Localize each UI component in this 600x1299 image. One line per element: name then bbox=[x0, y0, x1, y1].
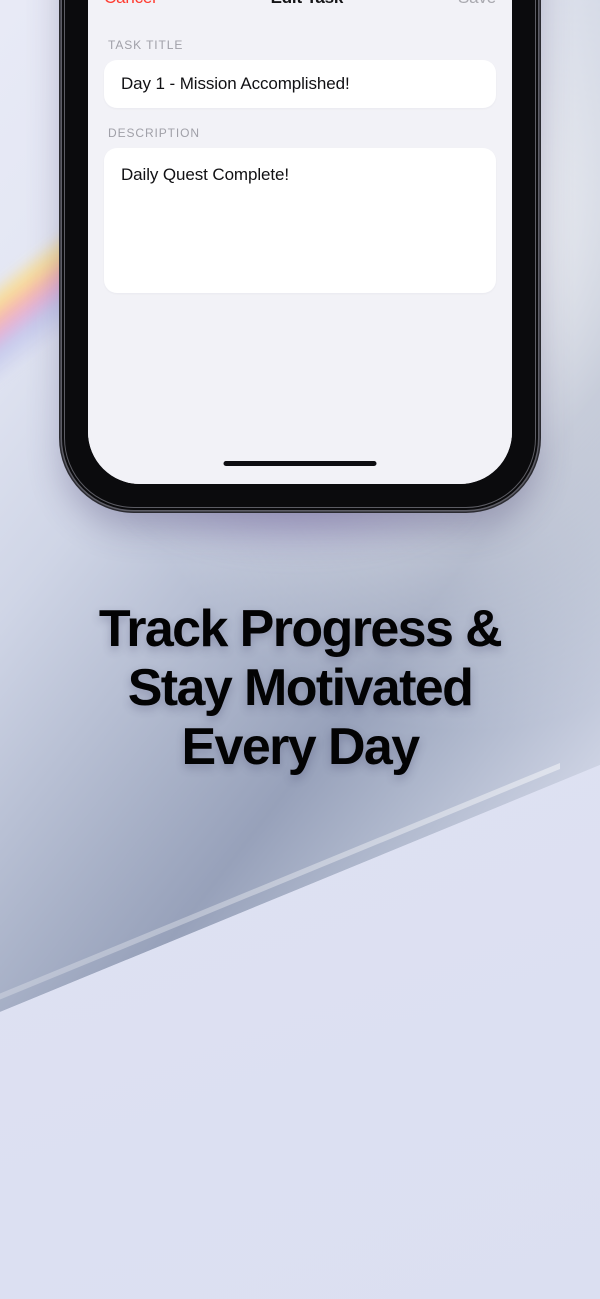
app-viewport: Cancel Edit Task Save TASK TITLE Day 1 -… bbox=[88, 0, 512, 484]
volume-button bbox=[62, 458, 64, 476]
headline-line-2: Stay Motivated bbox=[0, 659, 600, 718]
home-indicator[interactable] bbox=[224, 461, 377, 466]
headline-line-3: Every Day bbox=[0, 718, 600, 777]
navigation-bar: Cancel Edit Task Save bbox=[88, 0, 512, 20]
description-value: Daily Quest Complete! bbox=[121, 165, 289, 184]
app-store-preview-poster: Cancel Edit Task Save TASK TITLE Day 1 -… bbox=[0, 0, 600, 1299]
power-button bbox=[536, 458, 538, 476]
poster-headline: Track Progress & Stay Motivated Every Da… bbox=[0, 600, 600, 777]
task-title-label: TASK TITLE bbox=[104, 20, 496, 60]
phone-screen: Cancel Edit Task Save TASK TITLE Day 1 -… bbox=[88, 0, 512, 484]
save-button[interactable]: Save bbox=[458, 0, 496, 8]
cancel-button[interactable]: Cancel bbox=[104, 0, 156, 8]
page-title: Edit Task bbox=[156, 0, 458, 8]
description-label: DESCRIPTION bbox=[104, 108, 496, 148]
edit-task-form: TASK TITLE Day 1 - Mission Accomplished!… bbox=[88, 20, 512, 484]
task-title-input[interactable]: Day 1 - Mission Accomplished! bbox=[104, 60, 496, 108]
task-title-value: Day 1 - Mission Accomplished! bbox=[121, 74, 350, 94]
headline-line-1: Track Progress & bbox=[0, 600, 600, 659]
iphone-mockup: Cancel Edit Task Save TASK TITLE Day 1 -… bbox=[62, 0, 538, 510]
description-input[interactable]: Daily Quest Complete! bbox=[104, 148, 496, 293]
